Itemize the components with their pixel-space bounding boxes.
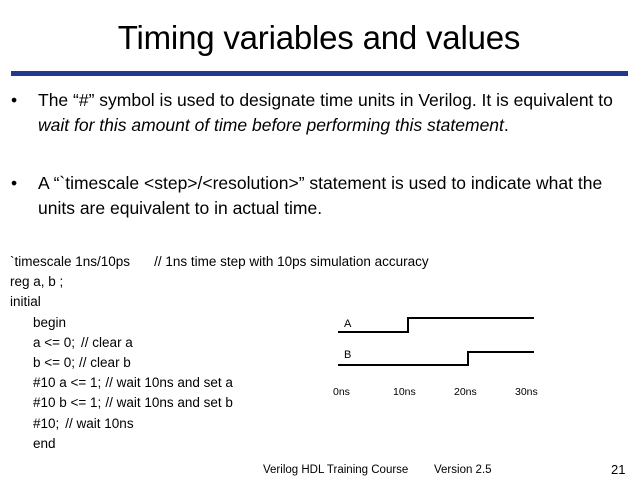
code-line-comment: // wait 10ns (65, 416, 133, 431)
code-line-text: end (33, 436, 56, 451)
bullet-text-1-before: The “#” symbol is used to designate time… (38, 90, 613, 110)
time-tick-label-10: 10ns (393, 386, 416, 398)
code-line-text: b <= 0; (33, 355, 75, 370)
code-line-text: #10; (33, 416, 59, 431)
bullet-text-2: A “`timescale <step>/<resolution>” state… (38, 171, 623, 221)
footer-course-name: Verilog HDL Training Course (263, 463, 408, 477)
slide-canvas: Timing variables and values • The “#” sy… (0, 0, 638, 479)
timing-diagram-svg (330, 308, 545, 398)
code-line-comment: // clear a (81, 335, 133, 350)
waveform-label-b: B (344, 349, 351, 361)
bullet-item-2: • A “`timescale <step>/<resolution>” sta… (11, 171, 623, 221)
code-line-text: #10 b <= 1; (33, 395, 101, 410)
code-line-text: begin (33, 315, 66, 330)
timing-diagram: A B 0ns 10ns 20ns 30ns (330, 308, 545, 398)
code-line-comment: // clear b (79, 355, 131, 370)
waveform-label-a: A (344, 318, 351, 330)
bullet-marker: • (11, 171, 33, 196)
time-tick-label-0: 0ns (333, 386, 350, 398)
bullet-marker: • (11, 88, 33, 113)
bullet-text-1-after: . (504, 115, 509, 135)
code-line-comment: // wait 10ns and set b (105, 395, 233, 410)
title-divider (11, 71, 628, 76)
page-title: Timing variables and values (0, 18, 638, 58)
footer-version-label: Version 2.5 (434, 463, 492, 477)
code-line-text: a <= 0; (33, 335, 75, 350)
bullet-item-1: • The “#” symbol is used to designate ti… (11, 88, 623, 138)
code-line-text: initial (10, 294, 41, 309)
code-line-text: #10 a <= 1; (33, 375, 101, 390)
time-tick-label-20: 20ns (454, 386, 477, 398)
code-line-text: `timescale 1ns/10ps (10, 254, 130, 269)
time-tick-label-30: 30ns (515, 386, 538, 398)
code-line-text: reg a, b ; (10, 274, 63, 289)
code-line: end (10, 434, 480, 454)
code-line: #10;// wait 10ns (10, 414, 480, 434)
footer-page-number: 21 (611, 462, 625, 477)
code-line: `timescale 1ns/10ps// 1ns time step with… (10, 252, 480, 272)
waveform-signal-a (338, 318, 534, 332)
code-line-comment: // 1ns time step with 10ps simulation ac… (154, 254, 429, 269)
bullet-text-1-italic: wait for this amount of time before perf… (38, 115, 504, 135)
code-line-comment: // wait 10ns and set a (105, 375, 233, 390)
bullet-text-1: The “#” symbol is used to designate time… (38, 88, 623, 138)
waveform-signal-b (338, 352, 534, 365)
code-line: reg a, b ; (10, 272, 480, 292)
bullet-text-2-before: A “`timescale <step>/<resolution>” state… (38, 173, 602, 218)
